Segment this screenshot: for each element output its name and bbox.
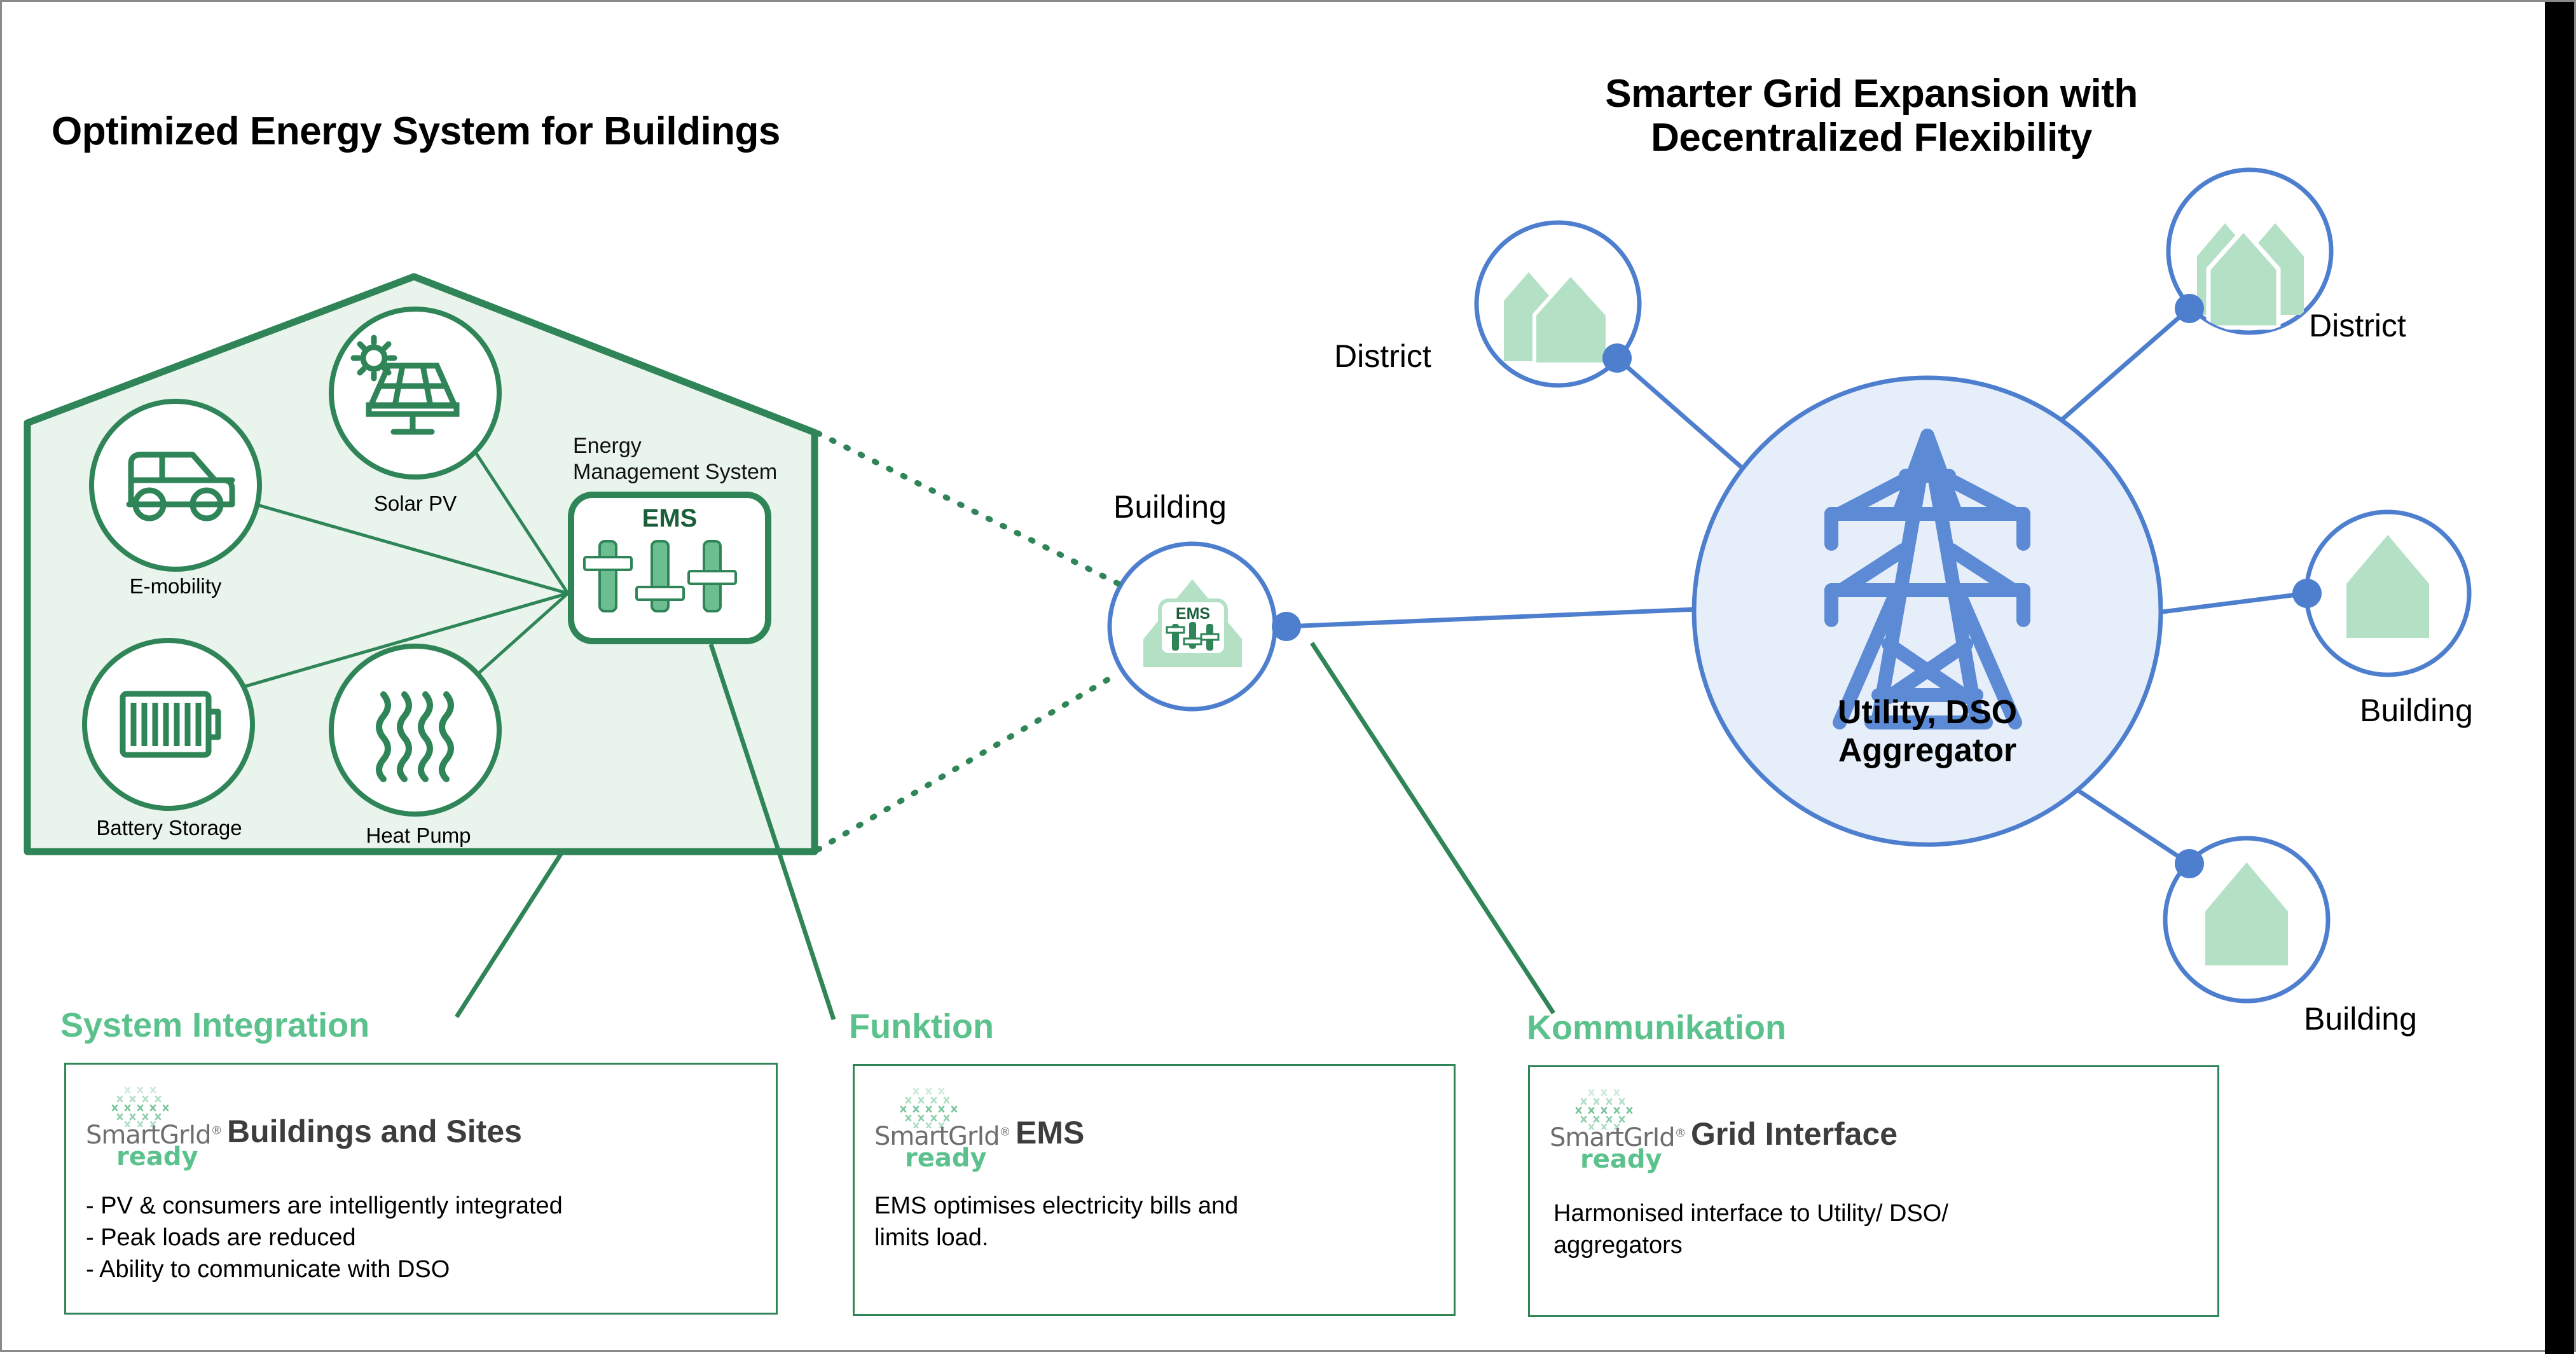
ems-box-label: EMS	[571, 504, 768, 533]
page-title-right-line1: Smarter Grid Expansion with	[1605, 72, 2137, 116]
asset-node-emobility[interactable]	[92, 401, 259, 569]
asset-label-battery: Battery Storage	[77, 816, 261, 840]
smartgrid-ready-word: ready	[1580, 1145, 1662, 1174]
smartgrid-ready-logo: SmartGrId® ready	[1550, 1086, 1664, 1182]
connector-dot	[1272, 612, 1301, 641]
card-title-funktion: Funktion	[849, 1007, 994, 1046]
page-title-left: Optimized Energy System for Buildings	[52, 109, 780, 154]
card-body-funktion: EMS optimises electricity bills and limi…	[874, 1190, 1447, 1254]
card-title-kommunikation: Kommunikation	[1527, 1008, 1786, 1047]
smartgrid-ready-logo: SmartGrId® ready	[874, 1085, 989, 1180]
card-head-kommunikation: SmartGrId® ready Grid Interface	[1529, 1077, 2219, 1191]
ems-slider-icon-small	[1167, 622, 1218, 651]
ems-caption-line2: Management System	[573, 460, 777, 484]
satellite-node-district-1[interactable]	[1477, 223, 1639, 385]
ems-caption-line1: Energy	[573, 434, 642, 458]
satellite-node-district-2[interactable]	[2168, 170, 2331, 333]
smartgrid-registered-mark: ®	[1675, 1127, 1686, 1140]
right-edge-bar	[2545, 2, 2574, 1354]
smartgrid-registered-mark: ®	[1000, 1126, 1010, 1139]
satellite-node-building-bottom[interactable]	[2165, 838, 2328, 1001]
building-node[interactable]	[1110, 544, 1301, 709]
link-hub-building-bottom	[2069, 784, 2189, 864]
card-head-system-integration: SmartGrId® ready Buildings and Sites	[65, 1074, 778, 1189]
smartgrid-ready-word: ready	[905, 1143, 987, 1173]
zoom-link-dotted	[818, 433, 1120, 850]
connector-dot	[2175, 294, 2204, 323]
building-node-ems-label: EMS	[1160, 605, 1226, 623]
asset-label-heatpump: Heat Pump	[358, 824, 479, 848]
card-body-kommunikation: Harmonised interface to Utility/ DSO/ ag…	[1553, 1198, 2208, 1261]
asset-label-solar: Solar PV	[358, 492, 472, 516]
asset-node-solar[interactable]	[331, 309, 499, 477]
asset-node-heatpump[interactable]	[331, 646, 499, 814]
building-node-label: Building	[1113, 488, 1227, 525]
satellite-label-building-bottom: Building	[2304, 1000, 2417, 1037]
card-head-funktion: SmartGrId® ready EMS	[854, 1075, 1456, 1190]
connector-dot	[1602, 343, 1632, 373]
ems-caption: Energy Management System	[573, 433, 777, 486]
connector-dot	[2175, 849, 2204, 878]
utility-hub-label: Utility, DSO Aggregator	[1737, 694, 2118, 770]
ems-slider-icon	[584, 541, 736, 611]
satellite-label-building-right: Building	[2360, 692, 2473, 729]
asset-label-emobility: E-mobility	[115, 574, 236, 598]
diagram-canvas: Optimized Energy System for Buildings Sm…	[0, 0, 2576, 1352]
asset-node-battery[interactable]	[85, 640, 252, 808]
smartgrid-ready-word: ready	[116, 1142, 198, 1171]
satellite-node-building-right[interactable]	[2292, 512, 2469, 675]
card-body-system-integration: - PV & consumers are intelligently integ…	[86, 1190, 760, 1285]
card-heading-kommunikation: Grid Interface	[1691, 1116, 1898, 1152]
satellite-label-district-2: District	[2309, 307, 2406, 344]
page-title-right: Smarter Grid Expansion with Decentralize…	[1547, 72, 2196, 160]
smartgrid-registered-mark: ®	[211, 1124, 222, 1138]
card-heading-system-integration: Buildings and Sites	[227, 1113, 522, 1150]
link-hub-building-right	[2158, 593, 2307, 612]
page-title-right-line2: Decentralized Flexibility	[1651, 116, 2092, 160]
utility-hub-node[interactable]	[1694, 378, 2161, 845]
utility-hub-label-line2: Aggregator	[1838, 732, 2016, 769]
smartgrid-ready-logo: SmartGrId® ready	[86, 1084, 200, 1179]
card-heading-funktion: EMS	[1016, 1114, 1084, 1151]
connector-dot	[2292, 579, 2322, 608]
satellite-label-district-1: District	[1334, 338, 1431, 375]
two-houses-icon	[2197, 223, 2304, 328]
utility-hub-label-line1: Utility, DSO	[1838, 694, 2017, 731]
card-title-system-integration: System Integration	[60, 1005, 369, 1045]
link-building-hub	[1286, 609, 1697, 626]
